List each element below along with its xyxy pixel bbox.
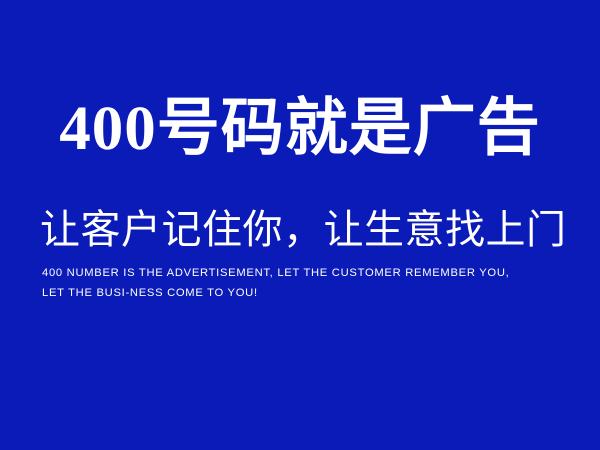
english-caption: 400 NUMBER IS THE ADVERTISEMENT, LET THE… xyxy=(42,263,562,303)
english-caption-line-2: LET THE BUSI-NESS COME TO YOU! xyxy=(42,283,562,303)
subtitle: 让客户记住你，让生意找上门 xyxy=(40,206,560,254)
headline: 400号码就是广告 xyxy=(0,93,600,163)
advertisement-banner: 400号码就是广告 让客户记住你，让生意找上门 400 NUMBER IS TH… xyxy=(0,0,600,450)
english-caption-line-1: 400 NUMBER IS THE ADVERTISEMENT, LET THE… xyxy=(42,263,562,283)
